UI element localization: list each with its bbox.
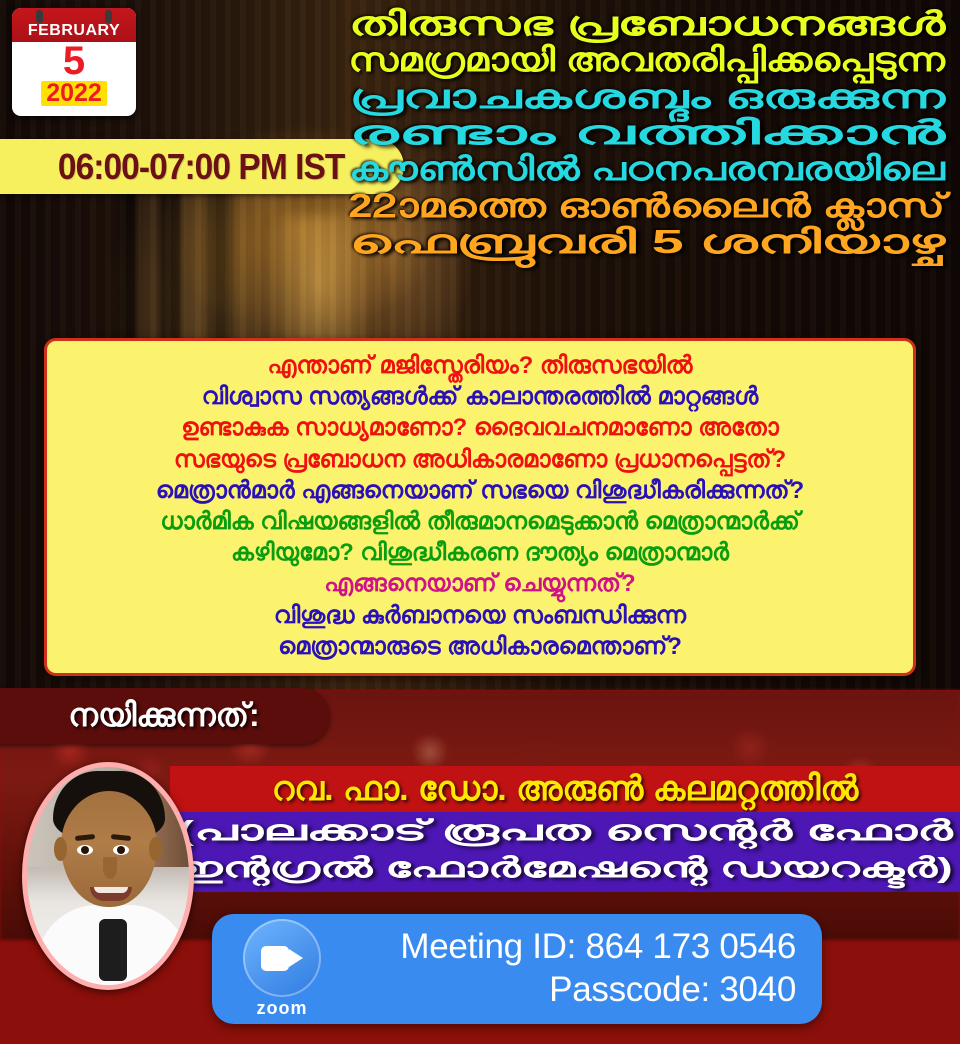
question-line: ധാർമിക വിഷയങ്ങളിൽ തീരുമാനമെടുക്കാൻ മെത്ര… (57, 506, 903, 537)
event-poster: FEBRUARY 5 2022 06:00-07:00 PM IST തിരുസ… (0, 0, 960, 1044)
title-line: തിരുസഭ പ്രബോധനങ്ങൾ (349, 6, 945, 42)
title-line: സമഗ്രമായി അവതരിപ്പിക്കപ്പെടുന്ന (349, 42, 945, 78)
question-line: ഉണ്ടാകുക സാധ്യമാണോ? ദൈവവചനമാണോ അതോ (57, 412, 903, 443)
avatar-nose (103, 857, 117, 879)
questions-box: എന്താണ് മജിസ്തേരിയം? തിരുസഭയിൽ വിശ്വാസ സ… (44, 338, 916, 676)
zoom-details-box: zoom Meeting ID: 864 173 0546 Passcode: … (212, 914, 822, 1024)
zoom-camera-icon (243, 919, 321, 997)
time-badge-label: 06:00-07:00 PM IST (34, 146, 345, 188)
calendar-ring-left (36, 10, 43, 23)
question-line: വിശ്വാസ സത്യങ്ങൾക്ക് കാലാന്തരത്തിൽ മാറ്റ… (57, 381, 903, 412)
avatar-eye-right (113, 845, 129, 855)
speaker-role-line: (പാലക്കാട് രൂപത സെന്റർ ഫോർ (177, 813, 952, 850)
question-line: മെത്രാന്മാരുടെ അധികാരമെന്താണ്? (57, 631, 903, 662)
avatar-ear-left (54, 837, 67, 861)
calendar-rings (12, 10, 136, 22)
avatar-collar (37, 905, 189, 985)
avatar-eye-left (77, 845, 93, 855)
zoom-credentials: Meeting ID: 864 173 0546 Passcode: 3040 (334, 926, 822, 1011)
zoom-passcode: Passcode: 3040 (334, 969, 796, 1012)
leader-label: നയിക്കുന്നത്: (68, 697, 259, 735)
leader-label-band: നയിക്കുന്നത്: (0, 688, 330, 744)
calendar-icon: FEBRUARY 5 2022 (12, 8, 136, 116)
speaker-name: റവ. ഫാ. ഡോ. അരുൺ കലമറ്റത്തിൽ (272, 770, 858, 809)
question-line: വിശുദ്ധ കുർബാനയെ സംബന്ധിക്കുന്ന (57, 600, 903, 631)
title-line: 22ാമത്തെ ഓൺലൈൻ ക്ലാസ് (349, 188, 946, 224)
title-line: ഫെബ്രുവരി 5 ശനിയാഴ്ച (349, 224, 945, 260)
title-line: കൗൺസിൽ പഠനപരമ്പരയിലെ (349, 151, 945, 187)
question-line: എന്താണ് മജിസ്തേരിയം? തിരുസഭയിൽ (57, 350, 903, 381)
question-line: സഭയുടെ പ്രബോധന അധികാരമാണോ പ്രധാനപ്പെട്ടത… (57, 444, 903, 475)
zoom-logo: zoom (230, 919, 334, 1019)
title-line: പ്രവാചകശബ്ദം ഒരുക്കുന്ന (349, 79, 945, 115)
camera-glyph (261, 946, 303, 971)
title-line: രണ്ടാം വത്തിക്കാൻ (349, 115, 945, 151)
calendar-year: 2022 (41, 81, 107, 106)
question-line: കഴിയുമോ? വിശുദ്ധീകരണ ദൗത്യം മെത്രാന്മാർ (57, 537, 903, 568)
speaker-role-band: (പാലക്കാട് രൂപത സെന്റർ ഫോർ ഇന്റഗ്രൽ ഫോർമ… (170, 812, 960, 892)
speaker-role-line: ഇന്റഗ്രൽ ഫോർമേഷന്റെ ഡയറക്ടർ) (177, 850, 953, 887)
question-line: മെത്രാൻമാർ എങ്ങനെയാണ് സഭയെ വിശുദ്ധീകരിക്… (57, 475, 903, 506)
page-title: തിരുസഭ പ്രബോധനങ്ങൾ സമഗ്രമായി അവതരിപ്പിക്… (342, 6, 952, 260)
calendar-ring-right (105, 10, 112, 23)
question-line: എങ്ങനെയാണ് ചെയ്യുന്നത്? (57, 568, 903, 599)
zoom-brand-label: zoom (230, 998, 334, 1019)
speaker-avatar (22, 762, 194, 990)
speaker-name-band: റവ. ഫാ. ഡോ. അരുൺ കലമറ്റത്തിൽ (170, 766, 960, 812)
calendar-day: 5 (63, 41, 85, 81)
calendar-body: 5 2022 (12, 42, 136, 116)
zoom-meeting-id: Meeting ID: 864 173 0546 (334, 926, 796, 969)
avatar-ear-right (149, 837, 162, 861)
